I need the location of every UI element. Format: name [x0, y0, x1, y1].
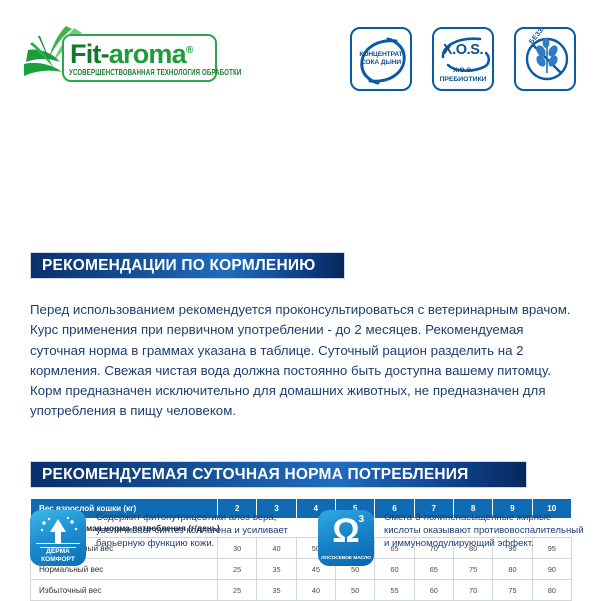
certification-badges: КОНЦЕНТРАТ СОКА ДЫНИ X.O.S. X.O.S. ПРЕБИ…	[350, 27, 576, 91]
logo-registered-mark: ®	[186, 45, 193, 56]
logo-word-fit: Fit	[70, 39, 101, 69]
badge-melon-concentrate: КОНЦЕНТРАТ СОКА ДЫНИ	[350, 27, 412, 91]
derma-description: Содержит фитонутрицевтики алоэ вера, уве…	[96, 510, 300, 566]
logo-word-sep: -	[101, 39, 109, 69]
badge-grain-free: БЕЗЗЕРНОВОЙ СОСТАВ	[514, 27, 576, 91]
derma-wave-line-1	[36, 543, 80, 545]
omega-icon: Ω 3 ЛОСОСЕВОЕ МАСЛО	[318, 510, 374, 566]
badge-xos-line1: X.O.S.	[453, 67, 473, 74]
feature-derma-comfort: ДЕРМА КОМФОРТ Содержит фитонутрицевтики …	[30, 510, 300, 566]
omega-superscript: 3	[358, 514, 364, 525]
omega-caption: ЛОСОСЕВОЕ МАСЛО	[318, 555, 374, 562]
badge-xos-prebiotic: X.O.S. X.O.S. ПРЕБИОТИКИ	[432, 27, 494, 91]
feature-omega3: Ω 3 ЛОСОСЕВОЕ МАСЛО Омега-3-полиненасыще…	[318, 510, 588, 566]
logo-word-aroma: aroma	[109, 39, 186, 69]
main-content: РЕКОМЕНДАЦИИ ПО КОРМЛЕНИЮ Перед использо…	[0, 118, 600, 498]
badge-xos-line2: ПРЕБИОТИКИ	[439, 76, 486, 83]
derma-caption-line2: КОМФОРТ	[41, 556, 75, 563]
badge-xos-title: X.O.S.	[434, 42, 492, 58]
derma-caption-line1: ДЕРМА	[46, 548, 70, 555]
header-bar: Fit-aroma® УСОВЕРШЕНСТВОВАННАЯ ТЕХНОЛОГИ…	[0, 0, 600, 118]
banner-feeding-title: РЕКОМЕНДАЦИИ ПО КОРМЛЕНИЮ	[42, 257, 315, 275]
badge-melon-line1: КОНЦЕНТРАТ	[359, 51, 402, 58]
badge-xos-subtitle: X.O.S. ПРЕБИОТИКИ	[434, 67, 492, 84]
banner-daily-norm: РЕКОМЕНДУЕМАЯ СУТОЧНАЯ НОРМА ПОТРЕБЛЕНИЯ	[30, 461, 527, 488]
badge-melon-label: КОНЦЕНТРАТ СОКА ДЫНИ	[352, 51, 410, 68]
badge-melon-line2: СОКА ДЫНИ	[361, 59, 401, 66]
feature-highlights: ДЕРМА КОМФОРТ Содержит фитонутрицевтики …	[0, 505, 600, 600]
logo-wordmark: Fit-aroma®	[70, 36, 220, 69]
derma-caption: ДЕРМА КОМФОРТ	[30, 548, 86, 563]
omega-description: Омега-3-полиненасыщенные жирные кислоты …	[384, 510, 588, 566]
banner-feeding-recommendations: РЕКОМЕНДАЦИИ ПО КОРМЛЕНИЮ	[30, 252, 345, 279]
omega-glyph: Ω	[318, 512, 374, 550]
logo-tagline: УСОВЕРШЕНСТВОВАННАЯ ТЕХНОЛОГИЯ ОБРАБОТКИ	[69, 68, 219, 77]
banner-daily-norm-title: РЕКОМЕНДУЕМАЯ СУТОЧНАЯ НОРМА ПОТРЕБЛЕНИЯ	[42, 466, 468, 484]
feeding-instructions-text: Перед использованием рекомендуется проко…	[30, 300, 575, 422]
feeding-guide-page: Fit-aroma® УСОВЕРШЕНСТВОВАННАЯ ТЕХНОЛОГИ…	[0, 0, 600, 600]
brand-logo: Fit-aroma® УСОВЕРШЕНСТВОВАННАЯ ТЕХНОЛОГИ…	[22, 24, 222, 88]
no-grain-icon	[516, 29, 576, 91]
derma-arrow-icon: ДЕРМА КОМФОРТ	[30, 510, 86, 566]
